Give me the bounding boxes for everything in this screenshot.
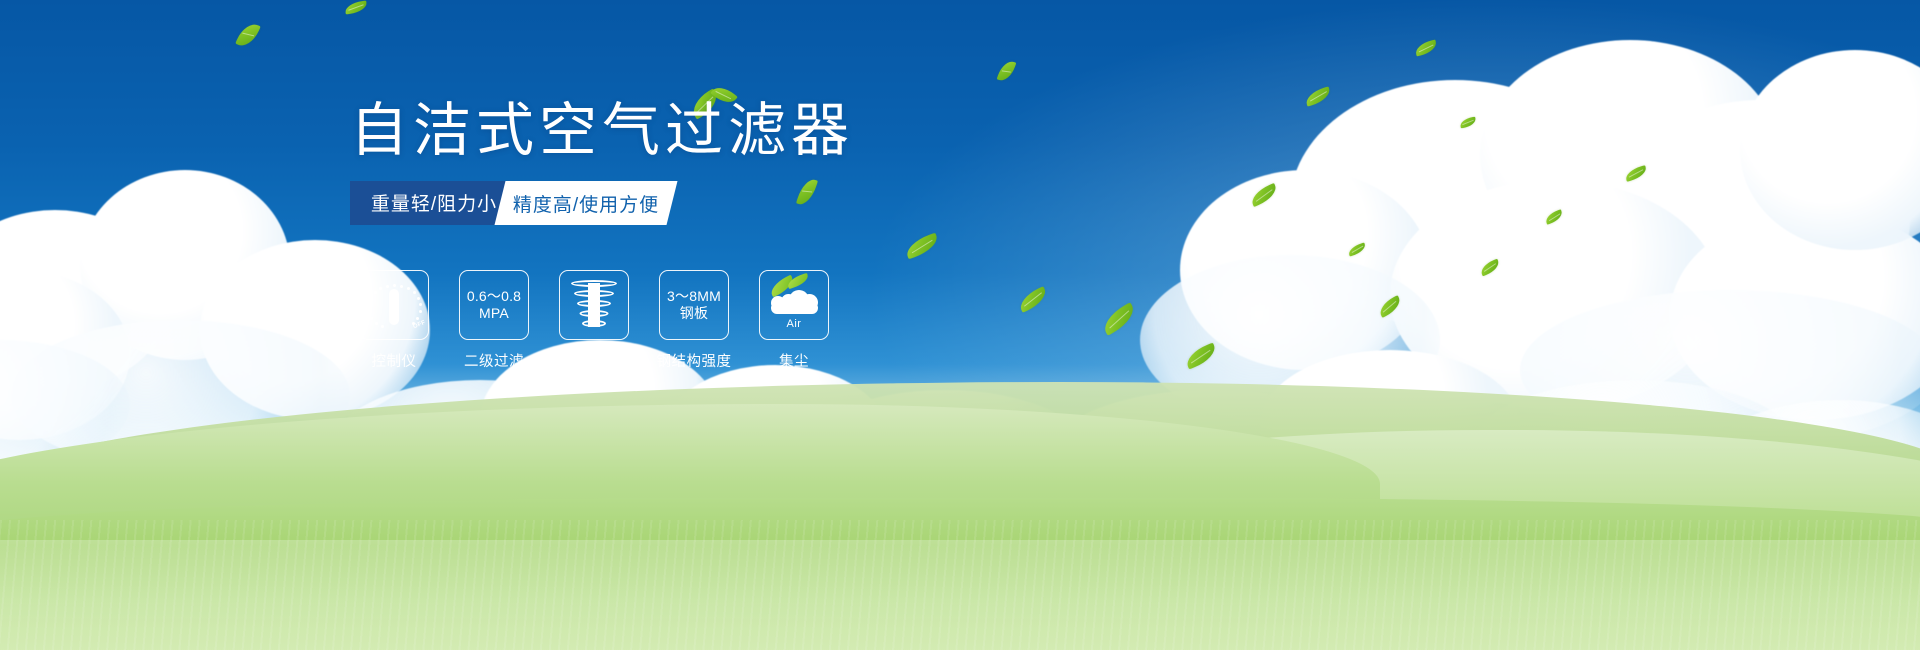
leaf-icon (997, 58, 1017, 83)
feature-dust-collection[interactable]: Air 集尘 (758, 270, 830, 371)
cloud-right-low (1050, 330, 1920, 520)
leaf-icon (1544, 209, 1564, 225)
tag-weight-resistance: 重量轻/阻力小 (350, 181, 518, 225)
leaf-icon (1414, 40, 1438, 57)
leaf-icon (903, 233, 940, 260)
leaf-icon (1304, 86, 1333, 106)
feature-dust-collection-box: Air (759, 270, 829, 340)
air-label: Air (767, 318, 821, 330)
feature-steel-strength-box: 3～8MM 钢板 (659, 270, 729, 340)
banner-content: 自洁式空气过滤器 重量轻/阻力小 精度高/使用方便 (350, 100, 970, 225)
field-sheen (0, 540, 1920, 650)
feature-controller-box: NO OFF (359, 270, 429, 340)
page-title: 自洁式空气过滤器 (350, 100, 970, 163)
leaf-icon (1479, 259, 1502, 277)
leaf-icon (1016, 286, 1050, 313)
hill-right (980, 430, 1920, 650)
leaf-icon (1183, 343, 1219, 370)
gauge-needle (389, 289, 399, 325)
filter-stack-icon (570, 279, 618, 331)
feature-list: NO OFF 控制仪 0.6～0.8 MPA 二级过滤 (358, 270, 830, 371)
leaf-icon (1248, 183, 1279, 207)
feature-blowback[interactable]: 强力反吹 (558, 270, 630, 371)
air-cloud-icon: Air (767, 282, 821, 328)
product-banner: 自洁式空气过滤器 重量轻/阻力小 精度高/使用方便 (0, 0, 1920, 650)
pressure-icon: 0.6～0.8 MPA (467, 288, 521, 321)
tag-row: 重量轻/阻力小 精度高/使用方便 (350, 181, 670, 225)
feature-dust-collection-label: 集尘 (779, 350, 809, 371)
leaf-icon (1347, 242, 1367, 256)
feature-blowback-label: 强力反吹 (564, 350, 624, 371)
feature-secondary-filter[interactable]: 0.6～0.8 MPA 二级过滤 (458, 270, 530, 371)
feature-steel-strength[interactable]: 3～8MM 钢板 钢结构强度 (658, 270, 730, 371)
gauge-label-on: NO (365, 302, 375, 313)
cloud-right (1140, 40, 1920, 440)
gauge-label-off: OFF (412, 320, 426, 330)
feature-secondary-filter-label: 二级过滤 (464, 350, 524, 371)
feature-controller[interactable]: NO OFF 控制仪 (358, 270, 430, 371)
tag-precision-convenience-label: 精度高/使用方便 (513, 189, 659, 216)
gauge-icon: NO OFF (366, 281, 422, 329)
leaf-icon (1459, 117, 1476, 129)
hill-far (0, 382, 1920, 650)
field-front (0, 498, 1920, 650)
tag-precision-convenience: 精度高/使用方便 (495, 181, 678, 225)
feature-secondary-filter-box: 0.6～0.8 MPA (459, 270, 529, 340)
leaf-icon (344, 1, 367, 15)
steel-plate-icon: 3～8MM 钢板 (667, 288, 721, 321)
leaf-icon (1099, 302, 1139, 336)
feature-blowback-box (559, 270, 629, 340)
leaf-icon (1376, 295, 1403, 318)
feature-steel-strength-label: 钢结构强度 (657, 350, 732, 371)
sky-glow (0, 0, 1920, 470)
leaf-icon (235, 20, 260, 50)
hill-mid (0, 404, 1380, 650)
feature-controller-label: 控制仪 (372, 350, 417, 371)
grass-texture (0, 520, 1920, 650)
leaf-icon (1624, 165, 1648, 182)
